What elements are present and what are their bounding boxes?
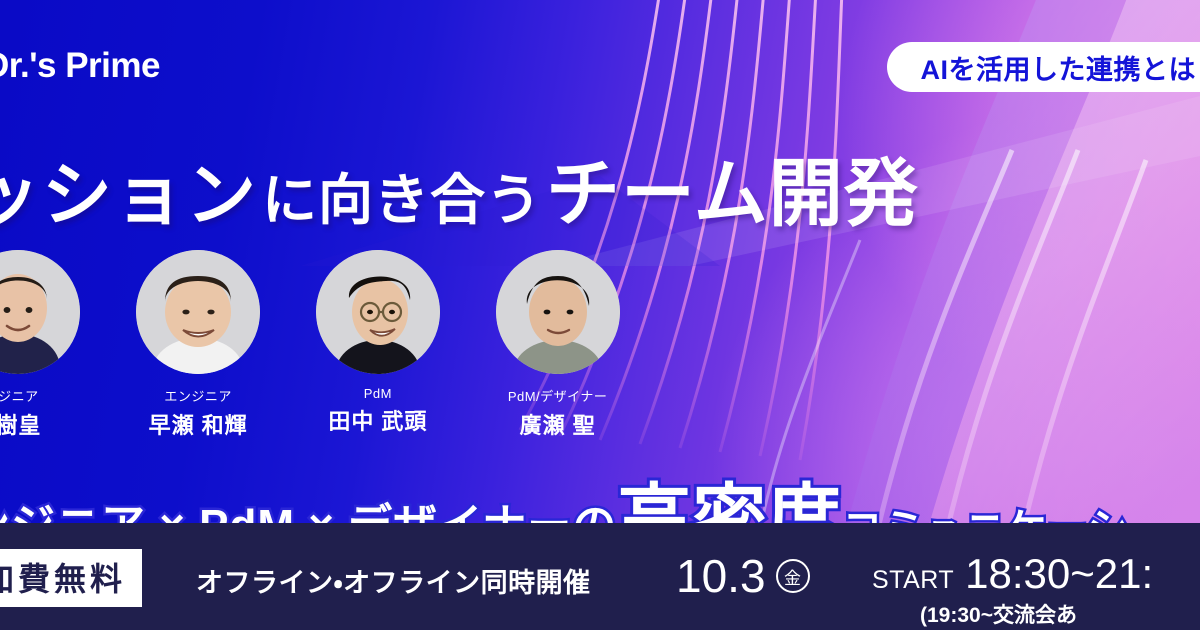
fee-badge: 加費無料 [0, 549, 142, 607]
event-date-block: 10.3 金 [676, 553, 810, 599]
speaker-name: 廣瀬 聖 [487, 408, 628, 440]
time-row: START 18:30~21: [872, 553, 1153, 595]
time-note: (19:30~交流会あ [872, 599, 1153, 629]
speaker-card: PdM/デザイナー 廣瀬 聖 [487, 250, 628, 440]
start-label: START [872, 566, 954, 595]
event-time-block: START 18:30~21: (19:30~交流会あ [872, 553, 1153, 629]
speaker-avatar [0, 250, 80, 374]
speaker-name: 早瀬 和輝 [128, 408, 269, 440]
speaker-role: ジニア [0, 386, 89, 405]
speaker-role: エンジニア [128, 386, 269, 405]
speaker-list: ジニア 樹皇 エンジニア 早瀬 和輝 [0, 250, 628, 440]
speaker-card: ジニア 樹皇 [0, 250, 89, 440]
fee-badge-label: 加費無料 [0, 561, 126, 597]
time-range: 18:30~21: [965, 553, 1153, 595]
speaker-avatar [316, 250, 440, 374]
event-banner: Dr.'s Prime AIを活用した連携とは ッション に向き合う チーム開発 [0, 0, 1200, 630]
event-date: 10.3 [676, 553, 766, 599]
topic-badge: AIを活用した連携とは [887, 42, 1200, 92]
event-format-text: オフライン・オフライン同時開催 [196, 561, 591, 600]
day-of-week-badge: 金 [776, 559, 810, 593]
speaker-card: PdM 田中 武頭 [308, 250, 449, 440]
speaker-avatar [136, 250, 260, 374]
speaker-card: エンジニア 早瀬 和輝 [128, 250, 269, 440]
speaker-name: 樹皇 [0, 408, 89, 440]
topic-badge-label: AIを活用した連携とは [921, 48, 1197, 87]
headline-part-1: ッション [0, 139, 258, 240]
footer-bar: 加費無料 オフライン・オフライン同時開催 10.3 金 START 18:30~… [0, 523, 1200, 630]
speaker-name: 田中 武頭 [308, 404, 449, 436]
headline-part-2: に向き合う [258, 155, 546, 235]
main-headline: ッション に向き合う チーム開発 [0, 134, 919, 241]
speaker-avatar [496, 250, 620, 374]
speaker-role: PdM [308, 386, 449, 401]
brand-logo: Dr.'s Prime [0, 46, 160, 86]
headline-part-3: チーム開発 [546, 134, 919, 241]
speaker-role: PdM/デザイナー [487, 386, 628, 405]
